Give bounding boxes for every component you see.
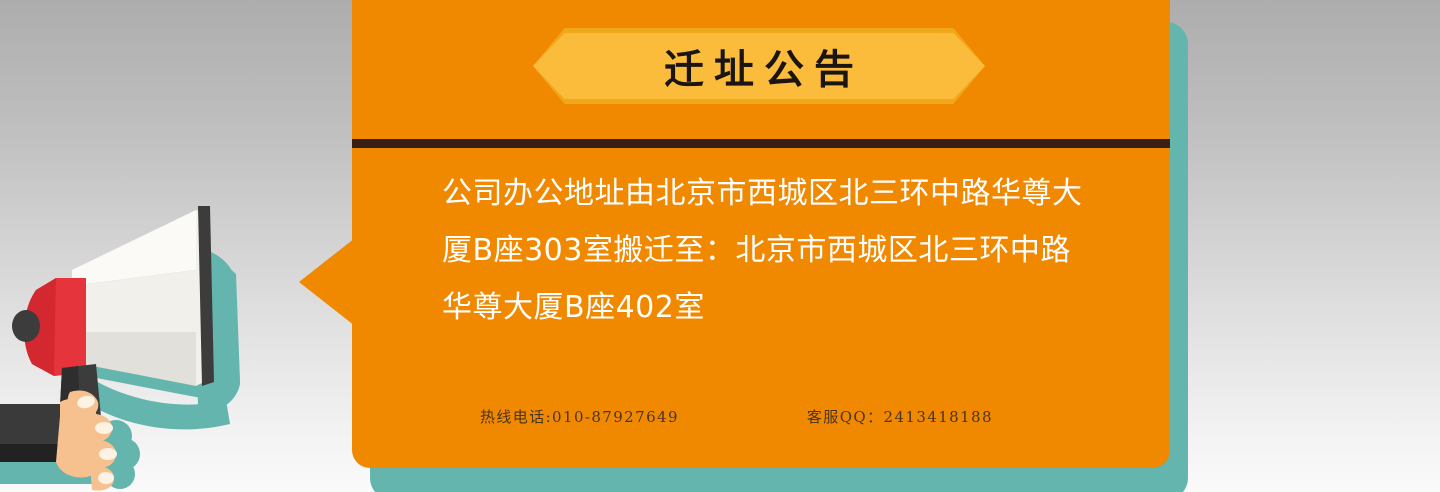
- megaphone-knob-icon: [12, 310, 40, 342]
- contact-footer: 热线电话:010-87927649 客服QQ：2413418188: [442, 406, 1102, 427]
- megaphone-cone-icon: [72, 210, 204, 386]
- header-divider: [352, 139, 1170, 148]
- title-banner: 迁址公告: [533, 28, 985, 104]
- megaphone-illustration: [0, 186, 320, 492]
- hotline-phone: 热线电话:010-87927649: [480, 406, 679, 427]
- notice-body-text: 公司办公地址由北京市西城区北三环中路华尊大厦B座303室搬迁至：北京市西城区北三…: [442, 165, 1092, 336]
- support-qq: 客服QQ：2413418188: [807, 406, 993, 427]
- announcement-banner: 迁址公告 公司办公地址由北京市西城区北三环中路华尊大厦B座303室搬迁至：北京市…: [0, 0, 1440, 492]
- page-title: 迁址公告: [533, 28, 985, 104]
